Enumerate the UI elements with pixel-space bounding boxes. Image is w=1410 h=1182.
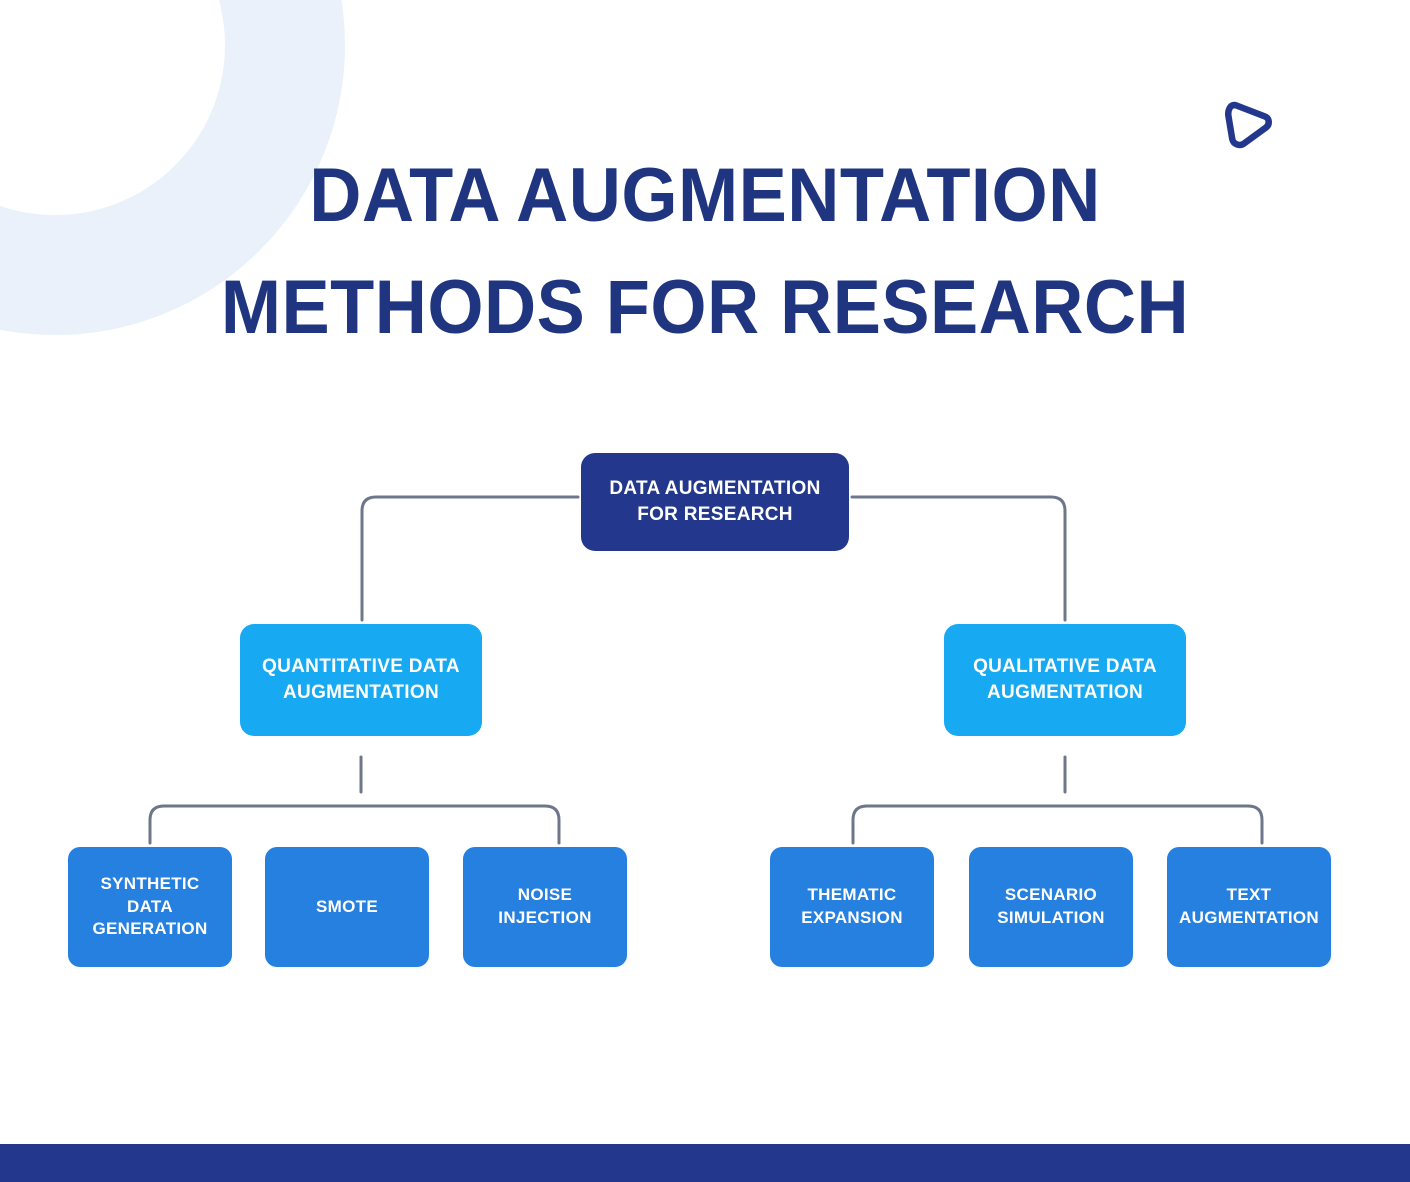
node-scenario-label-line-2: SIMULATION bbox=[997, 907, 1105, 930]
hierarchy-diagram: DATA AUGMENTATION FOR RESEARCH QUANTITAT… bbox=[0, 0, 1410, 1182]
node-smote-label: SMOTE bbox=[316, 896, 378, 919]
node-qualitative-label-line-1: QUALITATIVE DATA bbox=[973, 654, 1157, 680]
connector-qualitative-bus bbox=[853, 806, 1262, 843]
node-thematic-label-line-2: EXPANSION bbox=[801, 907, 903, 930]
node-synthetic-label-line-1: SYNTHETIC bbox=[92, 873, 207, 896]
node-text-aug-label-line-1: TEXT bbox=[1179, 884, 1319, 907]
node-root-label-line-1: DATA AUGMENTATION bbox=[609, 476, 820, 502]
node-qualitative-label-line-2: AUGMENTATION bbox=[973, 680, 1157, 706]
footer-bar bbox=[0, 1144, 1410, 1182]
node-scenario-simulation[interactable]: SCENARIO SIMULATION bbox=[969, 847, 1133, 967]
node-qualitative-data-augmentation[interactable]: QUALITATIVE DATA AUGMENTATION bbox=[944, 624, 1186, 736]
node-root-label-line-2: FOR RESEARCH bbox=[609, 502, 820, 528]
connector-quantitative-bus bbox=[150, 806, 559, 843]
node-smote[interactable]: SMOTE bbox=[265, 847, 429, 967]
node-quantitative-label-line-1: QUANTITATIVE DATA bbox=[262, 654, 460, 680]
node-quantitative-label-line-2: AUGMENTATION bbox=[262, 680, 460, 706]
node-noise-label-line-1: NOISE bbox=[498, 884, 591, 907]
node-synthetic-data-generation[interactable]: SYNTHETIC DATA GENERATION bbox=[68, 847, 232, 967]
node-noise-injection[interactable]: NOISE INJECTION bbox=[463, 847, 627, 967]
node-text-aug-label-line-2: AUGMENTATION bbox=[1179, 907, 1319, 930]
node-scenario-label-line-1: SCENARIO bbox=[997, 884, 1105, 907]
node-synthetic-label-line-3: GENERATION bbox=[92, 918, 207, 941]
node-thematic-expansion[interactable]: THEMATIC EXPANSION bbox=[770, 847, 934, 967]
node-thematic-label-line-1: THEMATIC bbox=[801, 884, 903, 907]
node-text-augmentation[interactable]: TEXT AUGMENTATION bbox=[1167, 847, 1331, 967]
connector-lines bbox=[0, 0, 1410, 1182]
connector-root-to-quantitative bbox=[362, 497, 578, 620]
node-synthetic-label-line-2: DATA bbox=[92, 896, 207, 919]
node-quantitative-data-augmentation[interactable]: QUANTITATIVE DATA AUGMENTATION bbox=[240, 624, 482, 736]
connector-root-to-qualitative bbox=[852, 497, 1065, 620]
node-noise-label-line-2: INJECTION bbox=[498, 907, 591, 930]
node-root-data-augmentation-for-research[interactable]: DATA AUGMENTATION FOR RESEARCH bbox=[581, 453, 849, 551]
